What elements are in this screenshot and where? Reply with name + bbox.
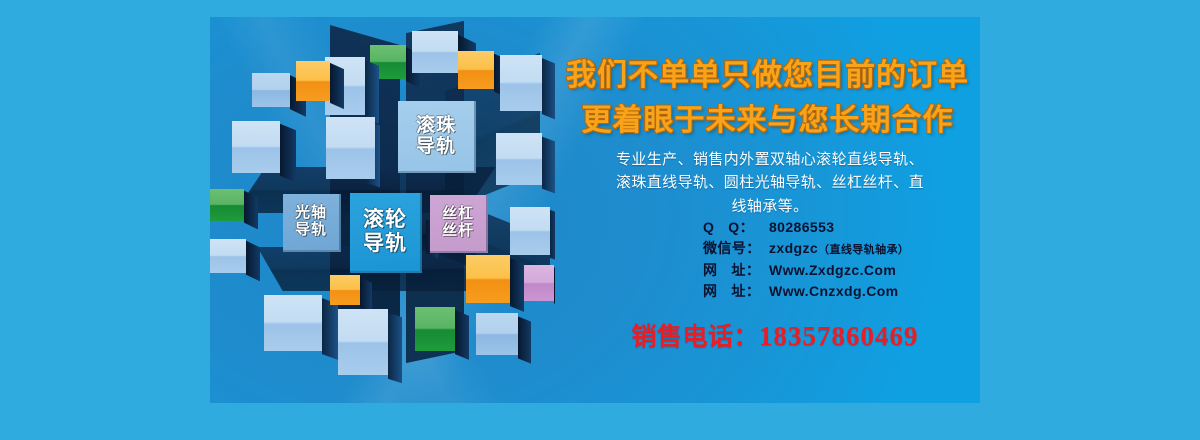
- cube-side: [280, 124, 296, 182]
- cube-face: [327, 117, 375, 179]
- sales-phone-block: 销售电话：18357860469: [585, 317, 965, 353]
- contact-value-qq[interactable]: 80286553: [769, 217, 835, 238]
- label-box-lead-screw[interactable]: 丝杠 丝杆: [430, 195, 488, 253]
- cube-face: [210, 189, 244, 221]
- label-box-roller-guide[interactable]: 滚轮 导轨: [350, 193, 422, 273]
- contact-value-wechat[interactable]: zxdgzc: [769, 238, 818, 259]
- cube-face: [476, 313, 518, 355]
- sales-phone-number[interactable]: 18357860469: [759, 321, 919, 351]
- cube: [264, 295, 322, 351]
- label-box-rolling-ball-guide[interactable]: 滚珠 导轨: [398, 101, 476, 173]
- cube: [327, 117, 375, 179]
- label-line-2: 导轨: [416, 136, 456, 157]
- label-line-2: 导轨: [363, 232, 407, 256]
- cube: [415, 307, 455, 351]
- cube-face: [264, 295, 322, 351]
- description-text: 专业生产、销售内外置双轴心滚轮直线导轨、 滚珠直线导轨、圆柱光轴导轨、丝杠丝杆、…: [575, 148, 965, 218]
- cube: [500, 55, 542, 111]
- cube-side: [388, 313, 402, 384]
- cube: [496, 133, 542, 185]
- cube: [412, 31, 458, 73]
- cube-face: [415, 307, 455, 351]
- banner-panel: 滚珠 导轨 光轴 导轨 丝杠 丝杆 滚轮 导轨 我们不单单只做您目前的订单 更着…: [210, 17, 980, 403]
- contact-label: 微信号：: [703, 238, 769, 259]
- cube: [252, 73, 290, 107]
- description-line-1: 专业生产、销售内外置双轴心滚轮直线导轨、: [616, 151, 924, 168]
- cube-face: [412, 31, 458, 73]
- label-line-2: 导轨: [295, 222, 327, 239]
- cube-side: [455, 310, 469, 360]
- description-line-3: 线轴承等。: [731, 198, 808, 215]
- cube-face: [338, 309, 388, 375]
- contact-label: 网址：: [703, 281, 769, 302]
- contact-row-wechat: 微信号： zxdgzc （直线导轨轴承）: [703, 238, 909, 259]
- label-line-1: 滚珠: [416, 115, 456, 136]
- exploding-cubes-artwork: 滚珠 导轨 光轴 导轨 丝杠 丝杆 滚轮 导轨: [210, 17, 555, 403]
- cube-face: [252, 73, 290, 107]
- sales-phone-label: 销售电话：: [631, 323, 759, 351]
- cube-face: [510, 207, 550, 255]
- label-line-2: 丝杆: [442, 223, 474, 240]
- cube-face: [296, 61, 330, 101]
- cube: [476, 313, 518, 355]
- cube-face: [500, 55, 542, 111]
- cube-side: [542, 137, 555, 194]
- cube: [210, 189, 244, 221]
- cube-face: [496, 133, 542, 185]
- contact-row-website-1: 网址： Www.Zxdgzc.Com: [703, 260, 909, 281]
- cube-face: [330, 275, 360, 305]
- contact-row-qq: QQ： 80286553: [703, 217, 909, 238]
- banner-copy: 我们不单单只做您目前的订单 更着眼于未来与您长期合作 专业生产、销售内外置双轴心…: [555, 17, 980, 403]
- cube-side: [246, 241, 260, 282]
- cube: [232, 121, 280, 173]
- contact-label-a: Q: [703, 219, 714, 235]
- cube: [330, 275, 360, 305]
- label-line-1: 丝杠: [442, 206, 474, 223]
- contact-label-a: 微信号: [703, 240, 746, 256]
- contact-info-block: QQ： 80286553 微信号： zxdgzc （直线导轨轴承） 网址： Ww…: [703, 217, 909, 302]
- contact-value-website-1[interactable]: Www.Zxdgzc.Com: [769, 260, 896, 281]
- cube: [510, 207, 550, 255]
- cube-side: [322, 298, 338, 360]
- contact-row-website-2: 网址： Www.Cnzxdg.Com: [703, 281, 909, 302]
- cube-side: [542, 58, 555, 120]
- contact-label-a: 网: [703, 283, 717, 299]
- promotional-banner: 滚珠 导轨 光轴 导轨 丝杠 丝杆 滚轮 导轨 我们不单单只做您目前的订单 更着…: [0, 0, 1200, 440]
- contact-note-wechat: （直线导轨轴承）: [818, 242, 909, 259]
- description-line-2: 滚珠直线导轨、圆柱光轴导轨、丝杠丝杆、直: [616, 174, 924, 191]
- cube-side: [244, 191, 258, 230]
- cube-face: [466, 255, 510, 303]
- cube: [458, 51, 494, 89]
- cube: [520, 265, 554, 301]
- cube-face: [232, 121, 280, 173]
- contact-colon: ：: [746, 283, 760, 299]
- label-line-1: 滚轮: [363, 208, 407, 232]
- cube-face: [520, 265, 554, 301]
- cube-side: [518, 316, 531, 363]
- contact-label-a: 网: [703, 262, 717, 278]
- contact-label-b: Q: [728, 219, 739, 235]
- cube-side: [510, 258, 524, 312]
- cube-side: [330, 63, 344, 109]
- label-line-1: 光轴: [295, 205, 327, 222]
- contact-label: 网址：: [703, 260, 769, 281]
- cube-face: [458, 51, 494, 89]
- cube-side: [365, 60, 379, 124]
- cube-face: [210, 239, 246, 273]
- cube: [338, 309, 388, 375]
- cube: [466, 255, 510, 303]
- cube: [296, 61, 330, 101]
- cube: [210, 239, 246, 273]
- contact-colon: ：: [746, 240, 760, 256]
- label-box-optical-axis-guide[interactable]: 光轴 导轨: [283, 194, 341, 252]
- headline-line-2: 更着眼于未来与您长期合作: [555, 95, 980, 139]
- contact-colon: ：: [740, 219, 754, 235]
- contact-value-website-2[interactable]: Www.Cnzxdg.Com: [769, 281, 899, 302]
- contact-label-b: 址: [731, 262, 745, 278]
- cube-side: [360, 277, 372, 313]
- contact-label: QQ：: [703, 217, 769, 238]
- contact-label-b: 址: [731, 283, 745, 299]
- contact-colon: ：: [746, 262, 760, 278]
- headline-line-1: 我们不单单只做您目前的订单: [555, 50, 980, 94]
